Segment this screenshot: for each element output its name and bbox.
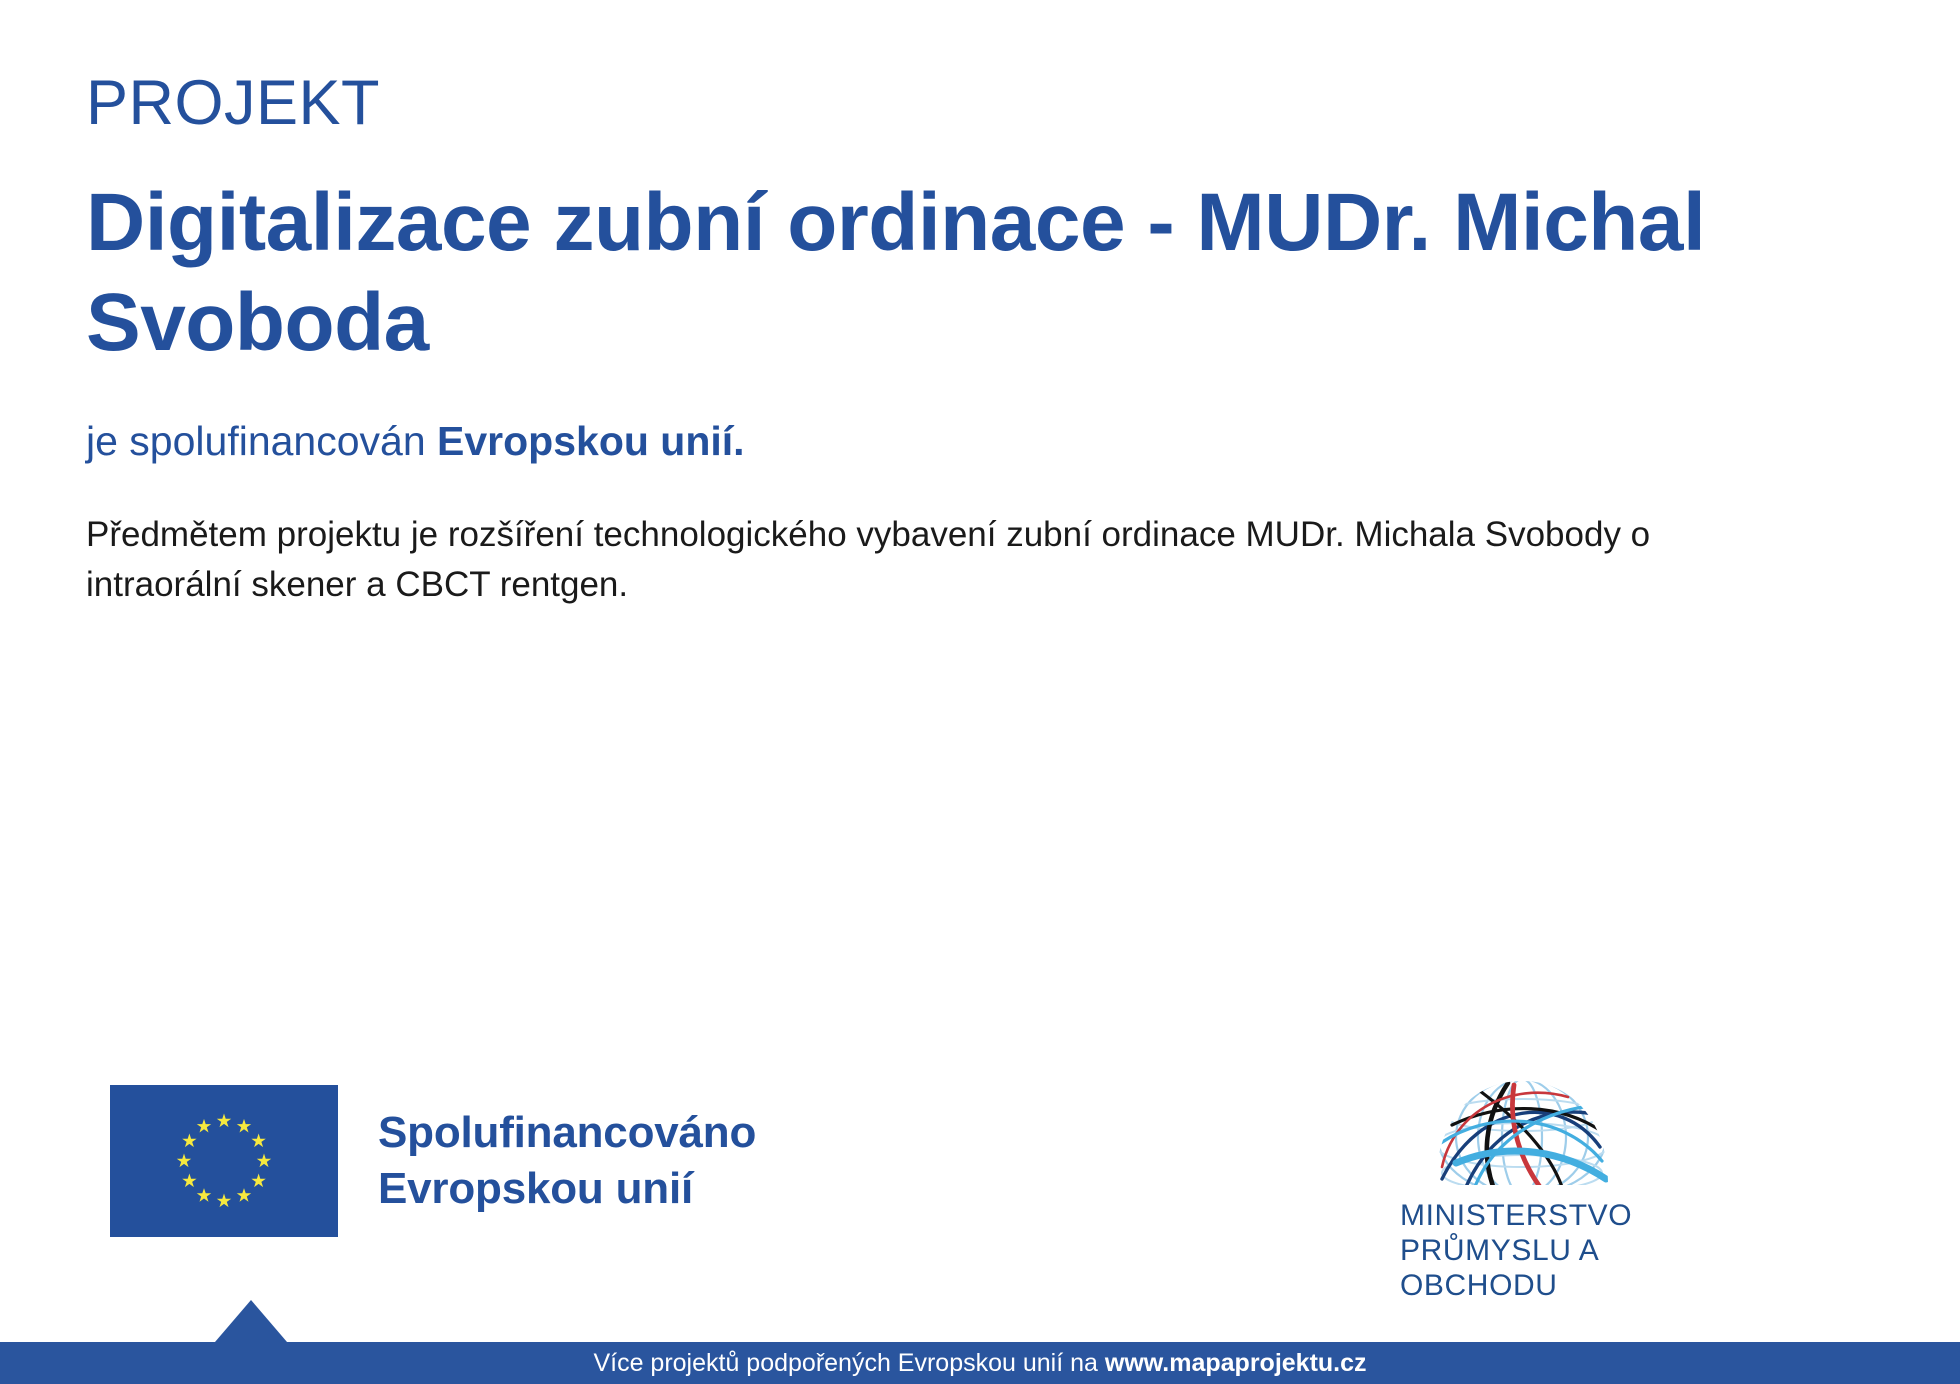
ministry-caption-line-1: MINISTERSTVO xyxy=(1400,1199,1760,1234)
cofinanced-lead: je spolufinancován xyxy=(86,418,437,464)
eu-caption-line-2: Evropskou unií xyxy=(378,1161,756,1217)
ministry-logo-caption: MINISTERSTVO PRŮMYSLU A OBCHODU xyxy=(1400,1199,1760,1303)
poster-kicker: PROJEKT xyxy=(86,0,1876,135)
footer-lead-text: Více projektů podpořených Evropskou unií… xyxy=(593,1349,1104,1377)
cofinanced-emphasis: Evropskou unií. xyxy=(437,418,745,464)
eu-caption-line-1: Spolufinancováno xyxy=(378,1105,756,1161)
ministry-logo-block: MINISTERSTVO PRŮMYSLU A OBCHODU xyxy=(1400,1075,1760,1303)
project-description: Předmětem projektu je rozšíření technolo… xyxy=(86,468,1786,609)
cofinanced-statement: je spolufinancován Evropskou unií. xyxy=(86,373,1876,468)
logo-row: Spolufinancováno Evropskou unií xyxy=(0,1085,1960,1285)
footer-arrow-indicator xyxy=(215,1300,287,1342)
eu-stars-circle xyxy=(110,1085,338,1237)
eu-logo-caption: Spolufinancováno Evropskou unií xyxy=(378,1105,756,1218)
ministry-caption-line-2: PRŮMYSLU A OBCHODU xyxy=(1400,1234,1760,1304)
ministry-globe-icon xyxy=(1422,1075,1622,1195)
page-title: Digitalizace zubní ordinace - MUDr. Mich… xyxy=(86,135,1876,373)
project-poster: PROJEKT Digitalizace zubní ordinace - MU… xyxy=(0,0,1960,1384)
footer-bar: Více projektů podpořených Evropskou unií… xyxy=(0,1342,1960,1384)
eu-logo-block: Spolufinancováno Evropskou unií xyxy=(110,1085,756,1237)
footer-text: Více projektů podpořených Evropskou unií… xyxy=(593,1351,1366,1376)
european-union-flag xyxy=(110,1085,338,1237)
footer-url-link[interactable]: www.mapaprojektu.cz xyxy=(1105,1349,1367,1377)
poster-content: PROJEKT Digitalizace zubní ordinace - MU… xyxy=(86,0,1876,610)
